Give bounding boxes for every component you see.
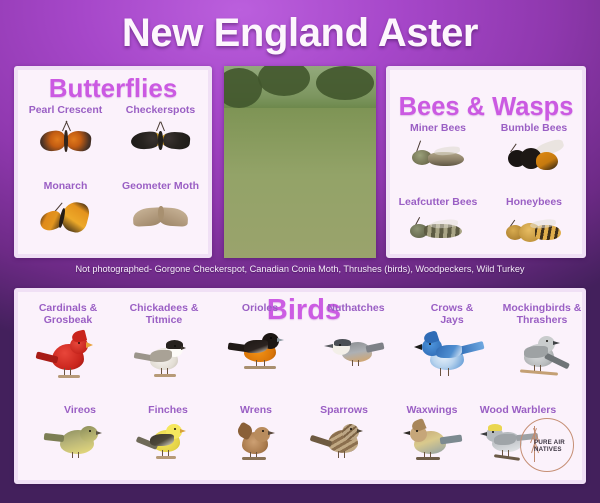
bird-item-waxwings: Waxwings [388,404,476,470]
item-label: Checkerspots [113,104,208,116]
bird-item-mockingbirds-thrashers: Mockingbirds & Thrashers [494,302,586,380]
panel-heading-bees: Bees & Wasps [390,92,582,122]
photo-aster-bloom [230,158,278,208]
panel-butterflies: Butterflies Pearl Crescent Checkerspots [14,66,212,258]
panel-bees-and-wasps: Bees & Wasps Miner Bees Bumble Bees Leaf… [386,66,586,258]
bird-label: Mockingbirds & Thrashers [494,302,586,326]
leafcutter-bee-icon [390,210,486,254]
checkerspot-butterfly-icon [113,118,208,162]
bird-item-vireos: Vireos [36,404,124,470]
logo-line-2: NATIVES [534,446,565,453]
item-geometer-moth: Geometer Moth [113,180,208,238]
birds-row-1: Cardinals & Grosbeak Chickadees & Titmic… [18,302,586,398]
item-label: Miner Bees [390,122,486,134]
bumble-bee-icon [486,136,582,180]
poster-canvas: New England Aster Butterflies Pearl Cres… [0,0,600,503]
bird-label: Waxwings [388,404,476,416]
monarch-butterfly-icon [18,194,113,238]
miner-bee-icon [390,136,486,180]
bird-label: Sparrows [300,404,388,416]
vireo-bird-icon [36,418,124,470]
oriole-bird-icon [212,328,308,380]
chickadee-bird-icon [116,328,212,380]
birds-row-2: Vireos Finches [18,404,586,484]
item-miner-bees: Miner Bees [390,122,486,180]
not-photographed-caption: Not photographed- Gorgone Checkerspot, C… [0,262,600,276]
item-label: Geometer Moth [113,180,208,192]
nuthatch-bird-icon [308,328,404,380]
logo-text: PURE AIR NATIVES [534,439,565,454]
bird-label: Nuthatches [308,302,404,314]
photo-aster-bloom [272,80,332,122]
sparrow-bird-icon [300,418,388,470]
bird-item-finches: Finches [124,404,212,470]
bird-label: Wood Warblers [470,404,566,416]
item-pearl-crescent: Pearl Crescent [18,104,113,162]
geometer-moth-icon [113,194,208,238]
bird-label: Wrens [212,404,300,416]
panel-heading-butterflies: Butterflies [18,73,208,103]
cardinal-bird-icon [20,328,116,380]
panel-birds: Birds Cardinals & Grosbeak Chicka [14,288,586,484]
bird-label: Vireos [36,404,124,416]
bird-label: Finches [124,404,212,416]
bird-item-nuthatches: Nuthatches [308,302,404,380]
item-checkerspots: Checkerspots [113,104,208,162]
pearl-crescent-butterfly-icon [18,118,113,162]
bird-item-crows-jays: Crows & Jays [404,302,500,380]
bird-label: Cardinals & Grosbeak [20,302,116,326]
bird-item-orioles: Orioles [212,302,308,380]
waxwing-bird-icon [388,418,476,470]
item-leafcutter-bees: Leafcutter Bees [390,196,486,254]
bird-item-sparrows: Sparrows [300,404,388,470]
honeybee-icon [486,210,582,254]
item-label: Pearl Crescent [18,104,113,116]
item-bumble-bees: Bumble Bees [486,122,582,180]
item-label: Honeybees [486,196,582,208]
mockingbird-bird-icon [494,328,586,380]
new-england-aster-shrub-photo [224,66,376,258]
item-monarch: Monarch [18,180,113,238]
wren-bird-icon [212,418,300,470]
bird-item-wrens: Wrens [212,404,300,470]
item-label: Leafcutter Bees [390,196,486,208]
photo-aster-bloom [324,138,376,198]
bird-label: Orioles [212,302,308,314]
bird-label: Crows & Jays [404,302,500,326]
item-label: Monarch [18,180,113,192]
item-label: Bumble Bees [486,122,582,134]
blue-jay-bird-icon [404,328,500,380]
bird-label: Chickadees & Titmice [116,302,212,326]
finch-bird-icon [124,418,212,470]
bird-item-cardinals-grosbeak: Cardinals & Grosbeak [20,302,116,380]
item-honeybees: Honeybees [486,196,582,254]
logo-line-1: PURE AIR [534,439,565,446]
bird-item-chickadees-titmice: Chickadees & Titmice [116,302,212,380]
pure-air-natives-logo: PURE AIR NATIVES [520,418,574,472]
page-title: New England Aster [0,10,600,56]
